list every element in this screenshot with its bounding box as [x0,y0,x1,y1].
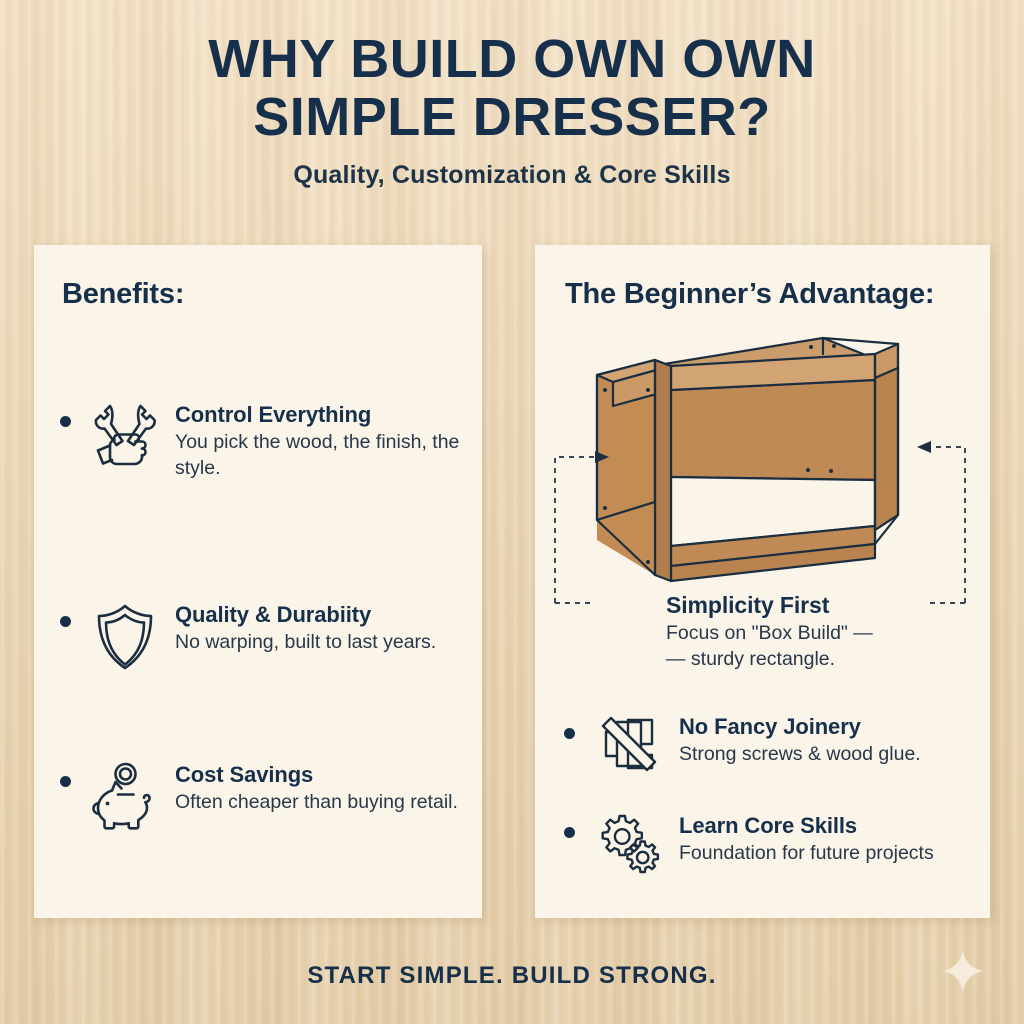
advantage-title: Learn Core Skills [679,813,934,838]
bullet-dot-icon [60,776,71,787]
advantage-text-block: No Fancy Joinery Strong screws & wood gl… [679,714,921,768]
benefit-title: Control Everything [175,402,475,427]
bullet-dot-icon [564,827,575,838]
bullet-dot-icon [60,416,71,427]
dimension-arrow-right [917,441,931,453]
bullet-dot-icon [60,616,71,627]
page-subtitle: Quality, Customization & Core Skills [0,161,1024,190]
simplicity-title: Simplicity First [666,592,966,618]
simplicity-desc-line-2: — sturdy rectangle. [666,647,956,672]
advantage-item-learn-core-skills: Learn Core Skills Foundation for future … [564,813,934,875]
sparkle-icon [940,948,986,999]
simplicity-description: Focus on "Box Build" — — sturdy rectangl… [666,621,956,672]
infographic-poster: WHY BUILD OWN OWN SIMPLE DRESSER? Qualit… [0,0,1024,1024]
advantage-description: Strong screws & wood glue. [679,742,921,767]
hand-holding-wrenches-icon [89,402,161,468]
benefit-text-block: Cost Savings Often cheaper than buying r… [175,762,458,816]
gears-icon [593,813,665,875]
bullet-dot-icon [564,728,575,739]
benefit-item-cost-savings: Cost Savings Often cheaper than buying r… [60,762,458,832]
benefit-text-block: Control Everything You pick the wood, th… [175,402,475,481]
footer-tagline: START SIMPLE. BUILD STRONG. [0,962,1024,990]
title-line-1: WHY BUILD OWN OWN [132,30,892,88]
title-line-2: SIMPLE DRESSER? [132,88,892,146]
advantage-description: Foundation for future projects [679,841,934,866]
benefit-description: You pick the wood, the finish, the style… [175,430,475,481]
advantage-item-no-fancy-joinery: No Fancy Joinery Strong screws & wood gl… [564,714,921,776]
piggy-bank-icon [89,762,161,832]
simplicity-desc-line-1: Focus on "Box Build" — [666,621,956,646]
benefit-text-block: Quality & Durabiity No warping, built to… [175,602,436,656]
no-fancy-joinery-icon [593,714,665,776]
benefit-title: Cost Savings [175,762,458,787]
simplicity-first-callout: Simplicity First Focus on "Box Build" — … [666,592,966,672]
benefit-description: Often cheaper than buying retail. [175,790,458,815]
advantage-title: No Fancy Joinery [679,714,921,739]
advantage-text-block: Learn Core Skills Foundation for future … [679,813,934,867]
benefit-item-control-everything: Control Everything You pick the wood, th… [60,402,475,481]
benefit-item-quality-durability: Quality & Durabiity No warping, built to… [60,602,436,672]
beginners-advantage-heading: The Beginner’s Advantage: [565,278,934,311]
benefit-title: Quality & Durabiity [175,602,436,627]
page-title: WHY BUILD OWN OWN SIMPLE DRESSER? [132,30,892,147]
shield-icon [89,602,161,672]
benefits-heading: Benefits: [62,278,184,311]
benefit-description: No warping, built to last years. [175,630,436,655]
poster-header: WHY BUILD OWN OWN SIMPLE DRESSER? Qualit… [0,30,1024,190]
